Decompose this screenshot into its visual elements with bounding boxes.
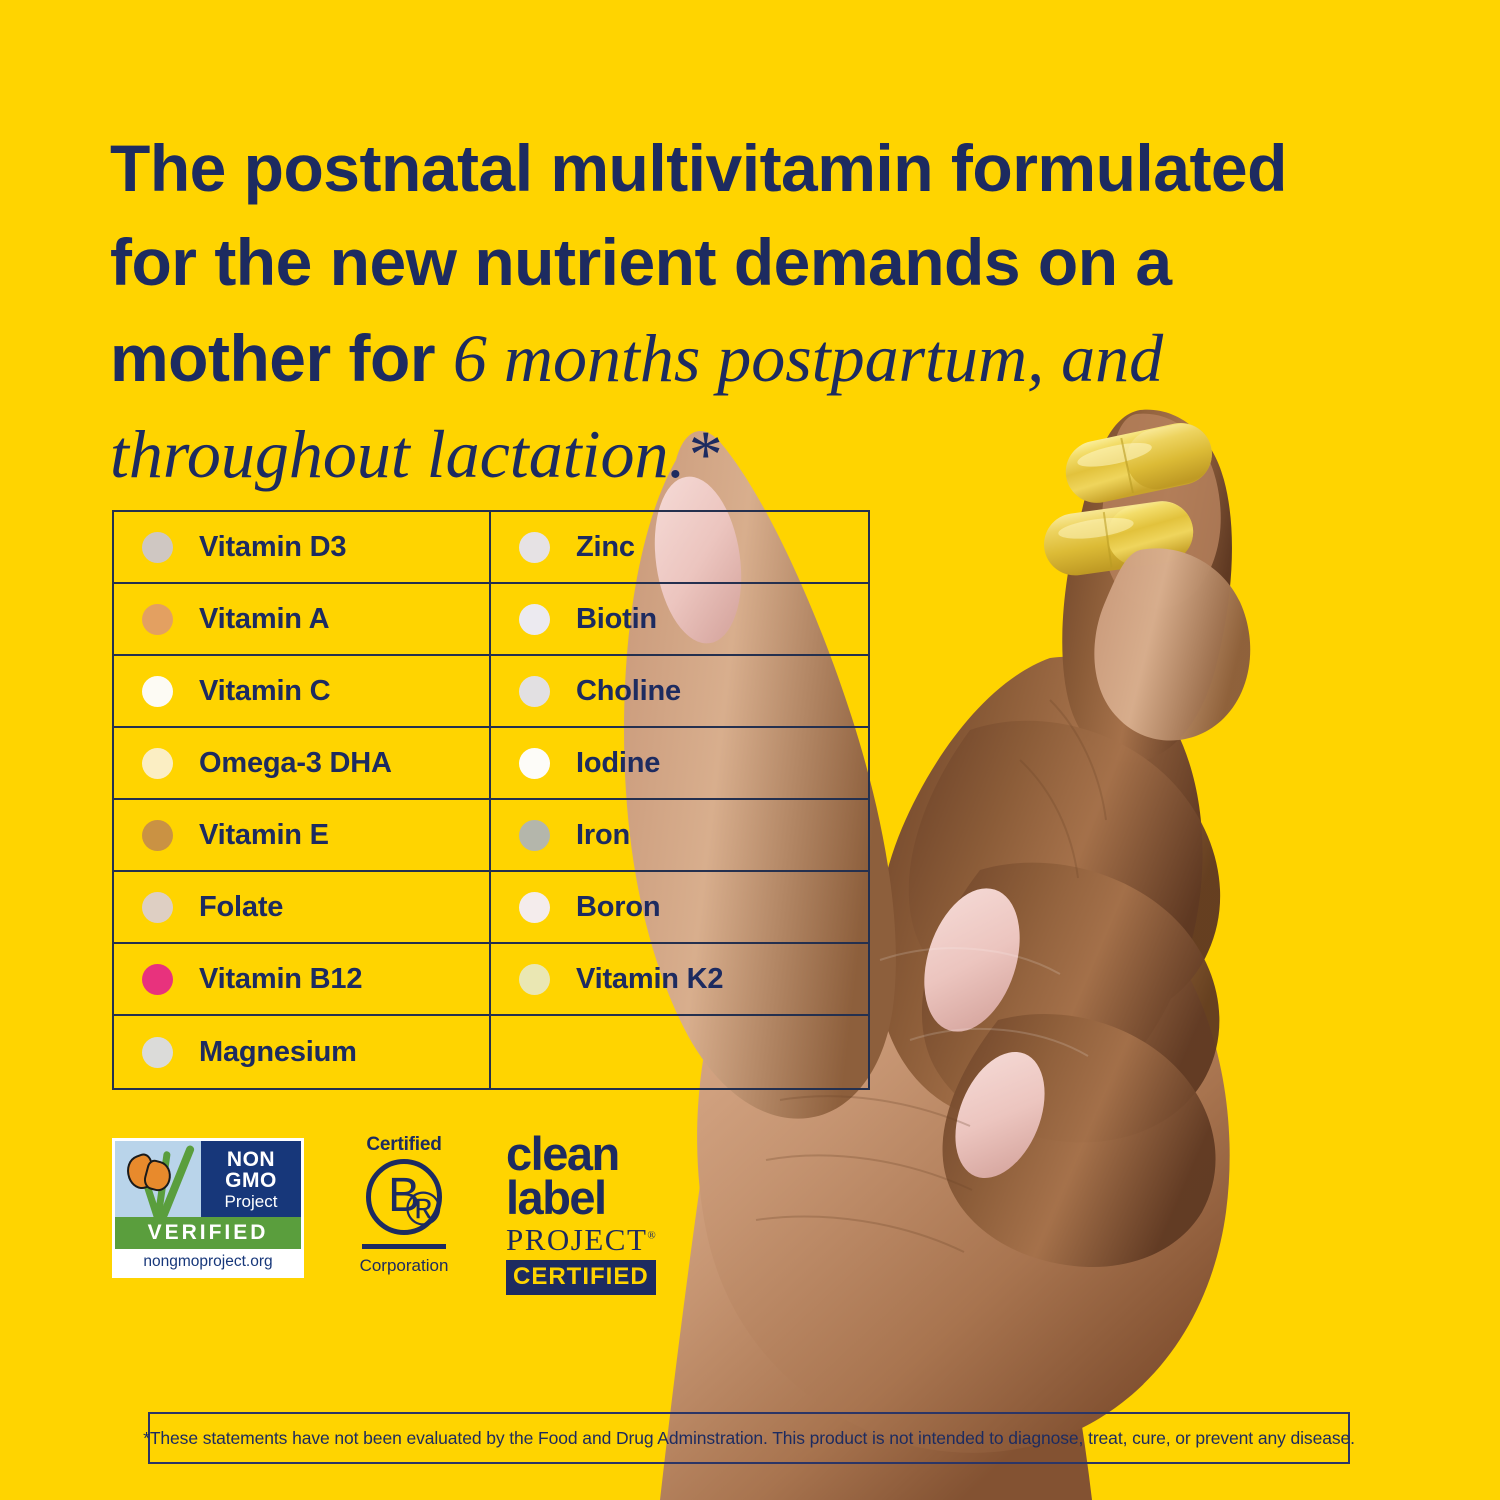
table-row: Folate Boron <box>114 872 868 944</box>
nutrient-cell: Iodine <box>491 728 868 798</box>
nutrient-color-dot <box>519 892 550 923</box>
nutrient-color-dot <box>142 532 173 563</box>
table-row: Omega-3 DHA Iodine <box>114 728 868 800</box>
nutrient-cell: Vitamin B12 <box>114 944 491 1014</box>
b-corp-top-label: Certified <box>366 1134 441 1156</box>
non-gmo-line3: Project <box>225 1193 278 1210</box>
nutrient-label: Iodine <box>576 747 660 780</box>
nutrient-cell: Omega-3 DHA <box>114 728 491 798</box>
nutrient-table: Vitamin D3 Zinc Vitamin A Biotin Vitamin… <box>112 510 870 1090</box>
nutrient-color-dot <box>142 748 173 779</box>
nutrient-label: Magnesium <box>199 1036 357 1069</box>
non-gmo-line1: NON <box>227 1149 275 1170</box>
clean-label-registered-mark: ® <box>647 1230 657 1242</box>
nutrient-label: Boron <box>576 891 660 924</box>
table-row: Vitamin D3 Zinc <box>114 512 868 584</box>
butterfly-grass-icon <box>115 1141 201 1217</box>
nutrient-cell-empty <box>491 1016 868 1088</box>
nutrient-label: Iron <box>576 819 630 852</box>
b-corp-badge: Certified B ® Corporation <box>344 1134 464 1286</box>
nutrient-color-dot <box>142 892 173 923</box>
nutrient-color-dot <box>142 604 173 635</box>
clean-label-certified-chip: CERTIFIED <box>506 1260 656 1295</box>
certification-badges: NON GMO Project VERIFIED nongmoproject.o… <box>112 1138 686 1295</box>
nutrient-color-dot <box>519 820 550 851</box>
nutrient-label: Vitamin B12 <box>199 963 362 996</box>
nutrient-cell: Vitamin D3 <box>114 512 491 582</box>
nutrient-label: Omega-3 DHA <box>199 747 392 780</box>
nutrient-label: Zinc <box>576 531 635 564</box>
nutrient-color-dot <box>142 676 173 707</box>
table-row: Magnesium <box>114 1016 868 1088</box>
nutrient-cell: Folate <box>114 872 491 942</box>
disclaimer-text: *These statements have not been evaluate… <box>143 1428 1355 1449</box>
non-gmo-url: nongmoproject.org <box>115 1249 301 1275</box>
nutrient-label: Vitamin E <box>199 819 329 852</box>
nutrient-color-dot <box>519 604 550 635</box>
non-gmo-line2: GMO <box>225 1170 277 1191</box>
clean-label-line1: clean <box>506 1132 686 1176</box>
nutrient-cell: Boron <box>491 872 868 942</box>
nutrient-cell: Zinc <box>491 512 868 582</box>
nutrient-color-dot <box>142 1037 173 1068</box>
nutrient-cell: Vitamin K2 <box>491 944 868 1014</box>
nutrient-cell: Vitamin E <box>114 800 491 870</box>
non-gmo-verified-badge: NON GMO Project VERIFIED nongmoproject.o… <box>112 1138 304 1278</box>
headline: The postnatal multivitamin formulated fo… <box>110 122 1350 503</box>
b-corp-circle-icon: B ® <box>366 1159 442 1235</box>
table-row: Vitamin E Iron <box>114 800 868 872</box>
nutrient-color-dot <box>519 676 550 707</box>
table-row: Vitamin A Biotin <box>114 584 868 656</box>
b-corp-divider <box>362 1244 446 1249</box>
nutrient-color-dot <box>142 820 173 851</box>
nutrient-cell: Vitamin A <box>114 584 491 654</box>
non-gmo-verified-label: VERIFIED <box>115 1217 301 1248</box>
nutrient-cell: Biotin <box>491 584 868 654</box>
table-row: Vitamin C Choline <box>114 656 868 728</box>
clean-label-line2: label <box>506 1176 686 1220</box>
nutrient-label: Vitamin A <box>199 603 329 636</box>
nutrient-cell: Vitamin C <box>114 656 491 726</box>
nutrient-label: Folate <box>199 891 283 924</box>
clean-label-project-badge: clean label PROJECT® CERTIFIED <box>506 1132 686 1295</box>
nutrient-color-dot <box>519 748 550 779</box>
nutrient-label: Vitamin D3 <box>199 531 346 564</box>
nutrient-cell: Iron <box>491 800 868 870</box>
nutrient-cell: Choline <box>491 656 868 726</box>
nutrient-cell: Magnesium <box>114 1016 491 1088</box>
b-corp-registered-mark: ® <box>406 1186 441 1234</box>
nutrient-label: Vitamin K2 <box>576 963 723 996</box>
product-marketing-card: The postnatal multivitamin formulated fo… <box>0 0 1500 1500</box>
nutrient-label: Biotin <box>576 603 657 636</box>
disclaimer-box: *These statements have not been evaluate… <box>148 1412 1350 1464</box>
nutrient-label: Choline <box>576 675 681 708</box>
nutrient-color-dot <box>519 964 550 995</box>
b-corp-bottom-label: Corporation <box>360 1256 449 1276</box>
nutrient-label: Vitamin C <box>199 675 330 708</box>
clean-label-line3: PROJECT® <box>506 1222 657 1258</box>
table-row: Vitamin B12 Vitamin K2 <box>114 944 868 1016</box>
nutrient-color-dot <box>519 532 550 563</box>
nutrient-color-dot <box>142 964 173 995</box>
